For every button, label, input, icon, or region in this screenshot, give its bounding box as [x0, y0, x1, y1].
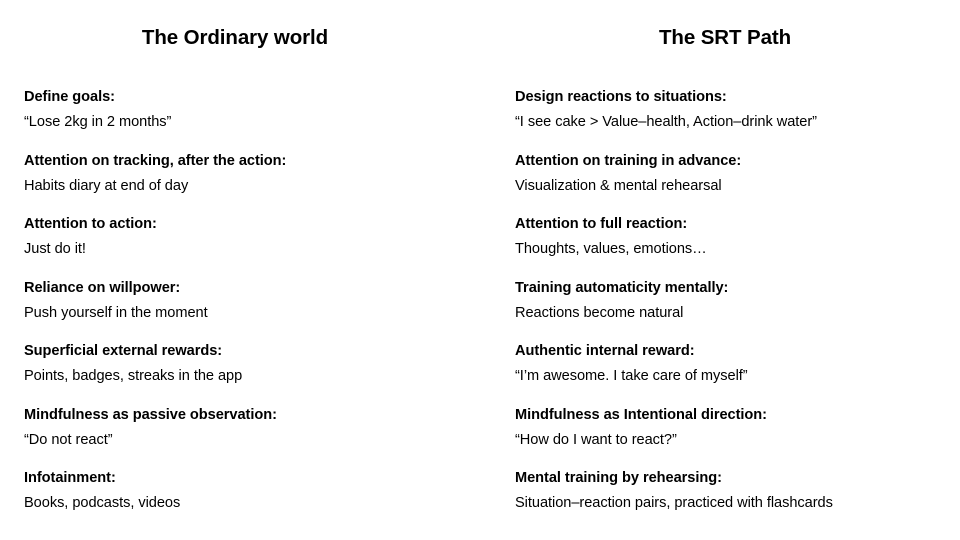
- comparison-row: Mental training by rehearsing: Situation…: [515, 469, 950, 533]
- comparison-row: Define goals: “Lose 2kg in 2 months”: [24, 88, 484, 152]
- row-heading: Attention to action:: [24, 215, 484, 234]
- row-detail: Push yourself in the moment: [24, 304, 484, 323]
- row-detail: Habits diary at end of day: [24, 177, 484, 196]
- row-heading: Define goals:: [24, 88, 484, 107]
- row-detail: Thoughts, values, emotions…: [515, 240, 950, 259]
- comparison-row: Authentic internal reward: “I’m awesome.…: [515, 342, 950, 406]
- row-detail: “Do not react”: [24, 431, 484, 450]
- comparison-row: Attention on training in advance: Visual…: [515, 152, 950, 216]
- comparison-slide: The Ordinary world The SRT Path Define g…: [0, 0, 960, 540]
- row-detail: “I see cake > Value–health, Action–drink…: [515, 113, 950, 132]
- row-heading: Attention to full reaction:: [515, 215, 950, 234]
- row-heading: Attention on tracking, after the action:: [24, 152, 484, 171]
- row-heading: Mental training by rehearsing:: [515, 469, 950, 488]
- comparison-row: Mindfulness as Intentional direction: “H…: [515, 406, 950, 470]
- row-detail: Situation–reaction pairs, practiced with…: [515, 494, 950, 513]
- row-heading: Mindfulness as Intentional direction:: [515, 406, 950, 425]
- row-heading: Infotainment:: [24, 469, 484, 488]
- comparison-row: Reliance on willpower: Push yourself in …: [24, 279, 484, 343]
- row-detail: “How do I want to react?”: [515, 431, 950, 450]
- row-heading: Design reactions to situations:: [515, 88, 950, 107]
- row-detail: Points, badges, streaks in the app: [24, 367, 484, 386]
- row-heading: Authentic internal reward:: [515, 342, 950, 361]
- left-column-title: The Ordinary world: [0, 26, 470, 50]
- row-heading: Training automaticity mentally:: [515, 279, 950, 298]
- row-heading: Reliance on willpower:: [24, 279, 484, 298]
- comparison-row: Superficial external rewards: Points, ba…: [24, 342, 484, 406]
- comparison-row: Infotainment: Books, podcasts, videos: [24, 469, 484, 533]
- right-column-body: Design reactions to situations: “I see c…: [515, 88, 950, 533]
- row-heading: Superficial external rewards:: [24, 342, 484, 361]
- comparison-row: Attention to full reaction: Thoughts, va…: [515, 215, 950, 279]
- comparison-row: Design reactions to situations: “I see c…: [515, 88, 950, 152]
- row-heading: Attention on training in advance:: [515, 152, 950, 171]
- row-detail: Just do it!: [24, 240, 484, 259]
- row-detail: Reactions become natural: [515, 304, 950, 323]
- row-detail: “Lose 2kg in 2 months”: [24, 113, 484, 132]
- row-detail: Visualization & mental rehearsal: [515, 177, 950, 196]
- row-heading: Mindfulness as passive observation:: [24, 406, 484, 425]
- comparison-row: Training automaticity mentally: Reaction…: [515, 279, 950, 343]
- row-detail: “I’m awesome. I take care of myself”: [515, 367, 950, 386]
- comparison-row: Mindfulness as passive observation: “Do …: [24, 406, 484, 470]
- row-detail: Books, podcasts, videos: [24, 494, 484, 513]
- left-column-body: Define goals: “Lose 2kg in 2 months” Att…: [24, 88, 484, 533]
- right-column-title: The SRT Path: [490, 26, 960, 50]
- comparison-row: Attention to action: Just do it!: [24, 215, 484, 279]
- comparison-row: Attention on tracking, after the action:…: [24, 152, 484, 216]
